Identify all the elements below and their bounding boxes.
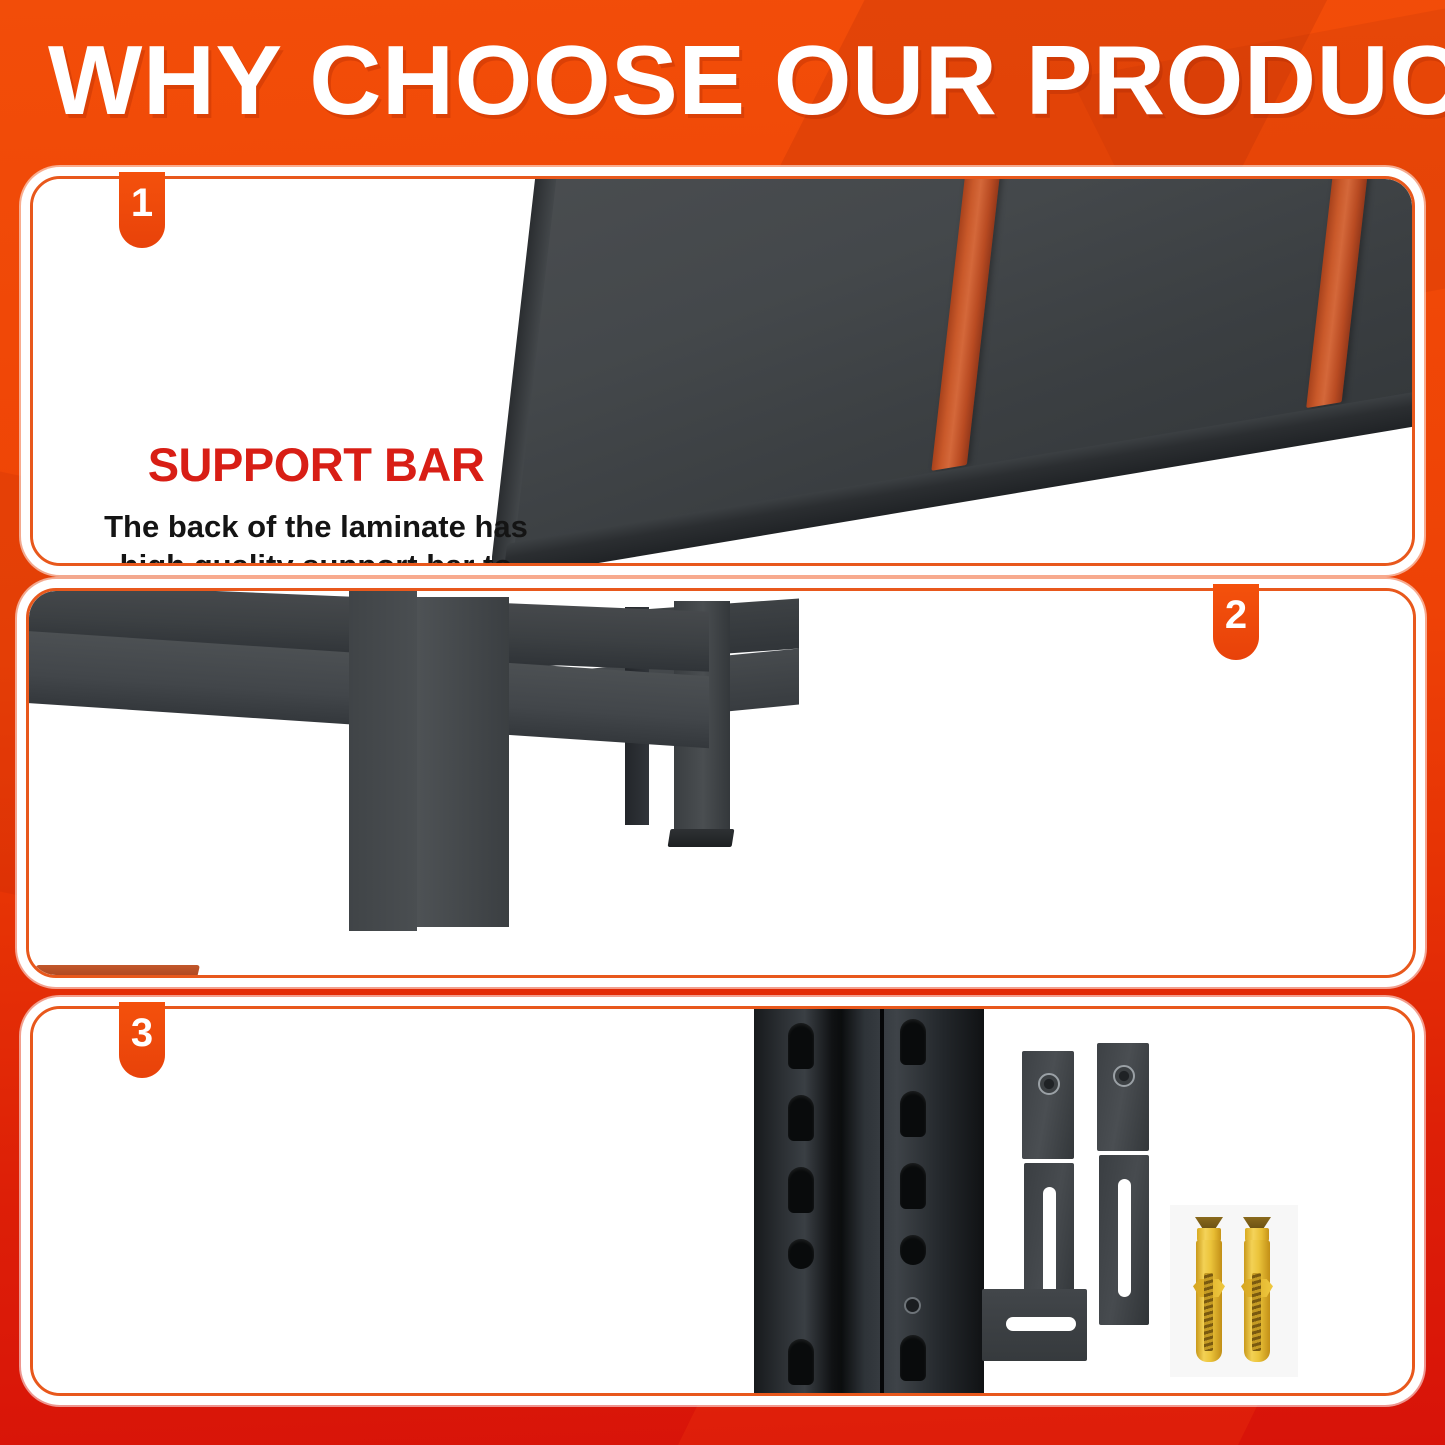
feature-1-number-badge: 1: [119, 172, 165, 248]
mounted-bracket: [982, 1289, 1087, 1361]
slotted-upright-post: [754, 1009, 984, 1393]
post-slot: [788, 1339, 814, 1385]
panel-content: ANTI-TIPPING CLIPS Anti-tipping clips ke…: [33, 1009, 1412, 1393]
shelf-board: [506, 179, 1412, 552]
wall-anchor-icon: [1192, 1217, 1226, 1367]
post-slot: [788, 1167, 814, 1213]
panel-content: FOOT PADS The Foot pads not only pro-tec…: [29, 591, 1413, 975]
feature-1-description: The back of the laminate has high qualit…: [81, 507, 551, 563]
feature-1-heading: SUPPORT BAR: [81, 437, 551, 493]
feature-1-text: SUPPORT BAR The back of the laminate has…: [81, 437, 551, 563]
rear-foot-pad-icon: [668, 829, 735, 847]
anchor-screw-thread: [1204, 1273, 1213, 1351]
feature-2-number-badge: 2: [1213, 584, 1259, 660]
post-slot: [788, 1023, 814, 1069]
bracket-slot-plate: [1099, 1155, 1149, 1325]
front-leg: [349, 591, 509, 931]
post-edge: [880, 1009, 884, 1393]
shelf-board-image: [492, 179, 1412, 563]
post-slot: [788, 1095, 814, 1141]
shelf-legs-image: [29, 591, 819, 975]
wall-anchor-icon: [1240, 1217, 1274, 1367]
post-screw-hole-icon: [904, 1297, 921, 1314]
product-feature-poster: WHY CHOOSE OUR PRODUCT SUPPORT BAR The b…: [0, 0, 1445, 1445]
panel-content: SUPPORT BAR The back of the laminate has…: [33, 179, 1412, 563]
post-slot: [900, 1091, 926, 1137]
feature-panel-anti-tipping-clips: ANTI-TIPPING CLIPS Anti-tipping clips ke…: [30, 1006, 1415, 1396]
post-slot: [788, 1239, 814, 1269]
post-slot: [900, 1335, 926, 1381]
feature-panel-foot-pads: FOOT PADS The Foot pads not only pro-tec…: [26, 588, 1416, 978]
post-slot: [900, 1163, 926, 1209]
leg-left-face: [349, 591, 417, 931]
bracket-flange: [1022, 1051, 1074, 1159]
front-foot-pad-icon: [30, 965, 200, 975]
page-title: WHY CHOOSE OUR PRODUCT: [48, 26, 1435, 136]
post-slot: [900, 1019, 926, 1065]
anti-tipping-hardware-image: [732, 1009, 1412, 1393]
feature-panel-support-bar: SUPPORT BAR The back of the laminate has…: [30, 176, 1415, 566]
post-slot: [900, 1235, 926, 1265]
support-bar-icon: [931, 179, 1011, 471]
wall-anchor-group: [1170, 1205, 1298, 1377]
leg-right-face: [417, 597, 509, 927]
bracket-flange: [1097, 1043, 1149, 1151]
support-bar-icon: [1306, 179, 1386, 408]
feature-3-number-badge: 3: [119, 1002, 165, 1078]
anchor-screw-thread: [1252, 1273, 1261, 1351]
